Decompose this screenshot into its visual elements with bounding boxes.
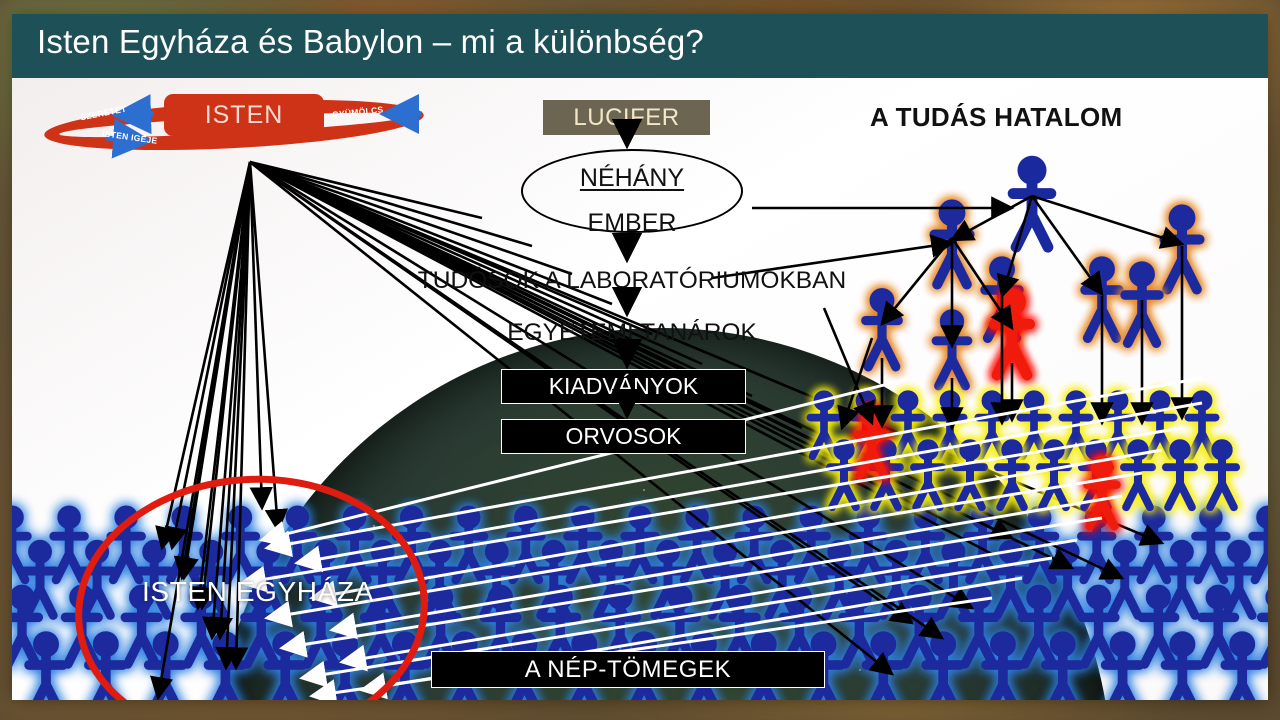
slide-canvas: ISTEN SZERETET ISTEN IGÉJE GYÜMÖLCS LUCI… [12,78,1268,700]
presentation-slide: Isten Egyháza és Babylon – mi a különbsé… [12,14,1268,700]
slide-stage: Isten Egyháza és Babylon – mi a különbsé… [0,0,1280,720]
masses-box[interactable]: A NÉP-TÖMEGEK [431,651,825,688]
slide-title: Isten Egyháza és Babylon – mi a különbsé… [37,23,704,61]
gods-church-label: ISTEN EGYHÁZA [142,576,374,608]
slide-title-bar: Isten Egyháza és Babylon – mi a különbsé… [12,14,1268,78]
masses-label: A NÉP-TÖMEGEK [432,652,824,687]
